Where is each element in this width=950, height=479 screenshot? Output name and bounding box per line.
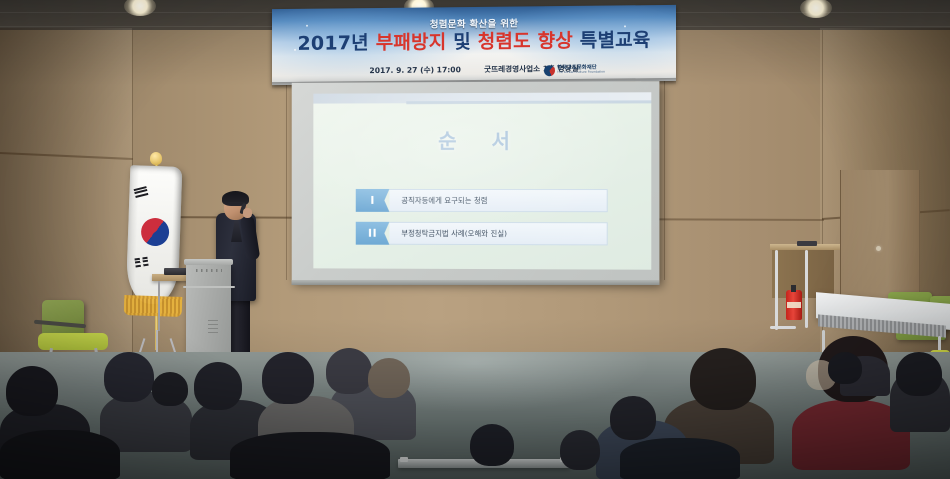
banner-datetime: 2017. 9. 27 (수) 17:00 (369, 65, 460, 75)
audience-shoulders (620, 438, 740, 479)
slide-title: 순 서 (313, 125, 651, 155)
banner-title-part-2: 부패방지 (376, 31, 447, 54)
slide-agenda-list: I 공직자등에게 요구되는 청렴 II 부정청탁금지법 사례(오해와 진실) (356, 189, 608, 255)
lectern-vent-upper (196, 269, 222, 272)
agenda-item: I 공직자등에게 요구되는 청렴 (356, 189, 608, 212)
foundation-logo-subtitle: The Korean Culture Foundation (557, 71, 605, 75)
side-desk-body (772, 250, 834, 298)
lecture-hall-photo: 청렴문화 확산을 위한 2017년 부패방지 및 청렴도 향상 특별교육 201… (0, 0, 950, 479)
banner-title-part-5: 특별교육 (573, 29, 651, 52)
audience-head (194, 362, 242, 410)
korean-flag (126, 165, 183, 305)
flag-fringe (124, 295, 183, 317)
foundation-logo: 한국고도문화재단 The Korean Culture Foundation (544, 63, 616, 78)
audience-head (610, 396, 656, 440)
lectern-top (184, 259, 233, 265)
audience-head (896, 352, 942, 396)
lectern-rail (183, 286, 235, 288)
agenda-item-label: 부정청탁금지법 사례(오해와 진실) (389, 222, 607, 246)
audience-head (470, 424, 514, 466)
agenda-item-label: 공직자등에게 요구되는 청렴 (389, 189, 607, 212)
audience-head (690, 348, 756, 410)
banner-title: 2017년 부패방지 및 청렴도 향상 특별교육 (272, 29, 676, 56)
agenda-item-number: II (356, 222, 390, 245)
banner-title-part-3: 및 (446, 31, 477, 53)
projection-screen-bottom-bar (292, 280, 660, 285)
speaker-hand (243, 208, 252, 218)
projected-slide: 순 서 I 공직자등에게 요구되는 청렴 II 부정청탁금지법 사례(오해와 진… (313, 92, 651, 269)
fire-extinguisher-label (787, 302, 801, 308)
slide-top-band-accent (406, 100, 651, 104)
audience-head (104, 352, 154, 402)
banner-title-part-4: 청렴도 향상 (478, 30, 573, 53)
audience-head (560, 430, 600, 470)
door-knob-icon[interactable] (876, 246, 881, 251)
trigram-gon-icon (134, 257, 148, 268)
audience-head (368, 358, 410, 398)
fire-extinguisher-nozzle (791, 285, 796, 292)
projection-screen: 순 서 I 공직자등에게 요구되는 청렴 II 부정청탁금지법 사례(오해와 진… (292, 81, 660, 283)
audience-shoulders (0, 430, 120, 479)
audience-head (828, 352, 862, 384)
trigram-geon-icon (134, 186, 149, 198)
audience-head (326, 348, 372, 394)
side-desk-item (797, 241, 817, 246)
lectern-vent-lower (208, 320, 218, 336)
audience-shoulders (230, 432, 390, 479)
flag-finial-icon (150, 152, 162, 165)
event-banner: 청렴문화 확산을 위한 2017년 부패방지 및 청렴도 향상 특별교육 201… (272, 5, 676, 85)
olive-chair-seat[interactable] (38, 333, 108, 350)
agenda-item-number: I (356, 189, 390, 212)
agenda-item: II 부정청탁금지법 사례(오해와 진실) (356, 222, 608, 246)
audience-head (6, 366, 58, 416)
audience-head (152, 372, 188, 406)
olive-chair-back[interactable] (42, 300, 84, 337)
foundation-logo-icon (544, 65, 555, 76)
taeguk-symbol-icon (136, 213, 175, 252)
banner-title-part-1: 2017년 (298, 32, 376, 55)
audience-head (262, 352, 314, 404)
